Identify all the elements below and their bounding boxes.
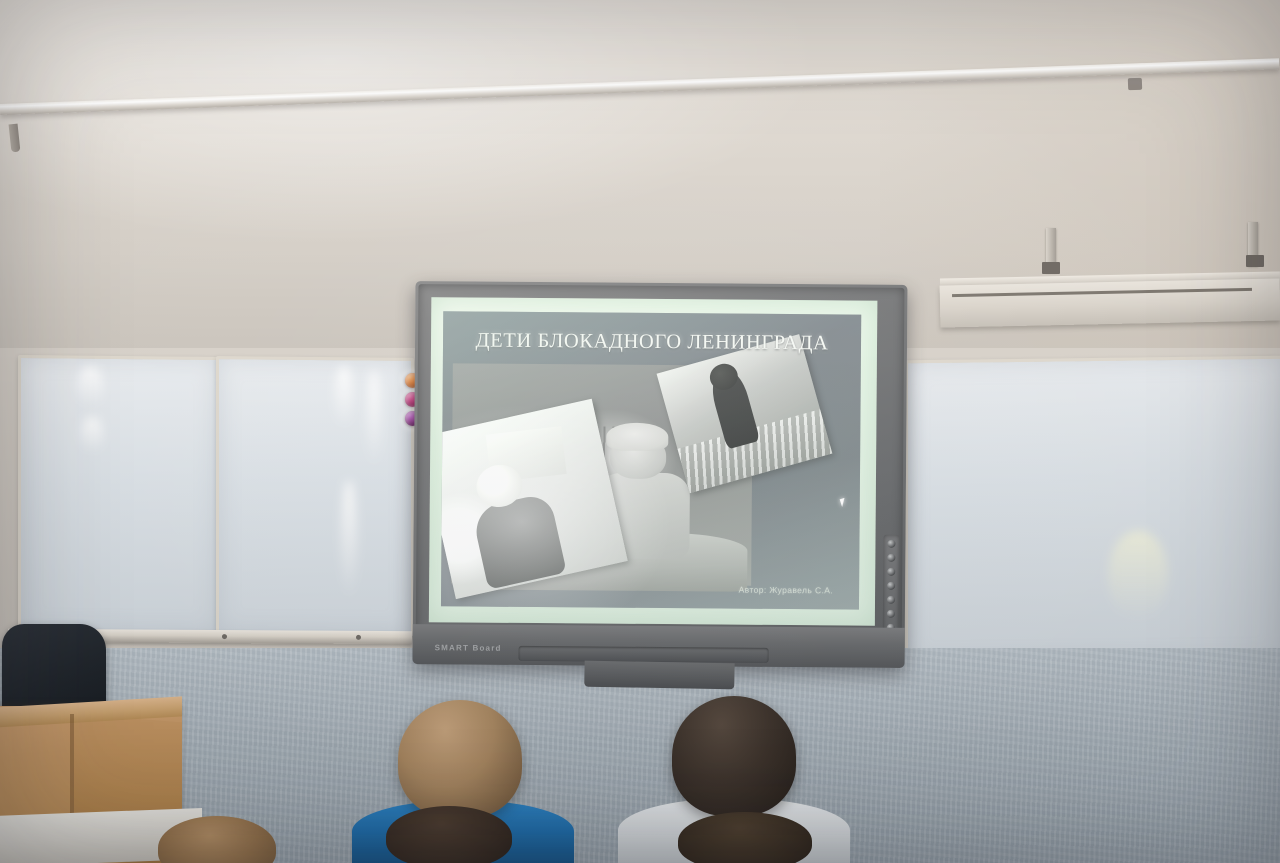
wall-bracket-left-foot	[1042, 262, 1060, 274]
curtain-rail-bracket	[1128, 78, 1142, 90]
slide-author-credit: Автор: Журавель С.А.	[739, 585, 834, 596]
smart-board-brand-logo: SMART Board	[435, 643, 502, 653]
smart-board-button-3[interactable]	[887, 568, 895, 576]
wall-bracket-right-foot	[1246, 255, 1264, 267]
slide-photo-person-on-rubble	[657, 334, 833, 493]
smart-board-button-5[interactable]	[887, 596, 895, 604]
smart-board-mount-arm	[584, 661, 734, 690]
smart-board-screen[interactable]: ДЕТИ БЛОКАДНОГО ЛЕНИНГРАДА Автор: Жураве…	[429, 297, 878, 625]
student-partial-right	[678, 812, 812, 863]
whiteboard-panel-right	[905, 356, 1280, 667]
student-dark-white-shirt	[672, 696, 796, 816]
presentation-slide[interactable]: ДЕТИ БЛОКАДНОГО ЛЕНИНГРАДА Автор: Жураве…	[441, 311, 861, 609]
smart-board-button-6[interactable]	[887, 610, 895, 618]
classroom-scene: ДЕТИ БЛОКАДНОГО ЛЕНИНГРАДА Автор: Жураве…	[0, 0, 1280, 863]
mouse-cursor-icon	[840, 498, 847, 507]
whiteboard-panel-left	[18, 355, 219, 635]
smart-board[interactable]: ДЕТИ БЛОКАДНОГО ЛЕНИНГРАДА Автор: Жураве…	[413, 281, 908, 668]
smart-board-button-2[interactable]	[887, 554, 895, 562]
student-blond-blue-shirt	[398, 700, 522, 818]
smart-board-button-4[interactable]	[887, 582, 895, 590]
smart-board-pen-tray[interactable]	[519, 646, 769, 663]
wall-mount-shelf	[940, 278, 1280, 327]
student-partial-center	[386, 806, 512, 863]
smart-board-button-1[interactable]	[887, 540, 895, 548]
whiteboard-panel-middle	[216, 356, 414, 636]
smart-board-button-strip[interactable]	[883, 535, 900, 639]
slide-title: ДЕТИ БЛОКАДНОГО ЛЕНИНГРАДА	[443, 329, 861, 355]
